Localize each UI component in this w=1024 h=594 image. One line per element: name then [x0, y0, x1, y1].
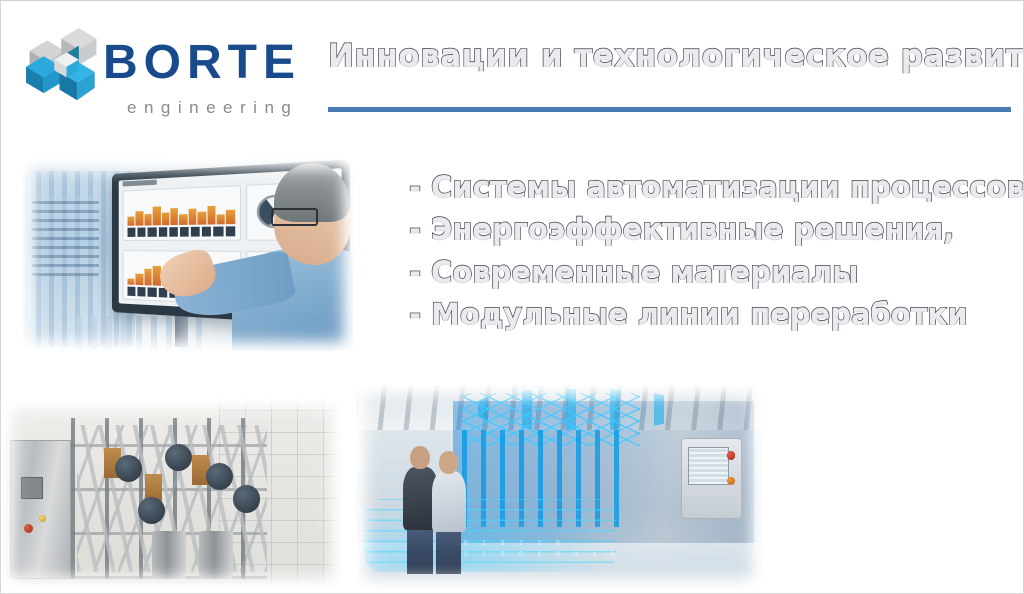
list-item-label: Энергоэффективные решения, [431, 213, 954, 246]
list-item: - Энергоэффективные решения, [409, 213, 1024, 246]
glasses-icon [271, 208, 318, 226]
page-title: Инновации и технологическое развитие [328, 39, 1011, 73]
title-divider [328, 107, 1011, 112]
machine-hmi-panel [681, 438, 742, 519]
status-light-orange-icon [727, 477, 735, 485]
cabinet-display [21, 477, 42, 499]
list-item-label: Современные материалы [431, 256, 858, 289]
bullet-marker-icon: - [409, 171, 421, 204]
engineer-back [429, 451, 468, 572]
bullet-marker-icon: - [409, 298, 421, 331]
page-title-wrapper: Инновации и технологическое развитие [328, 39, 1011, 73]
list-item-label: Модульные линии переработки [431, 298, 968, 331]
brand-tagline: engineering [127, 99, 298, 116]
emergency-stop-icon [24, 524, 33, 533]
machine-display [688, 447, 729, 485]
bullet-marker-icon: - [409, 213, 421, 246]
interlocking-cubes-logo-icon [19, 21, 107, 109]
operator-person [221, 159, 353, 351]
feature-list: - Системы автоматизации процессов, - Эне… [409, 171, 1024, 340]
bullet-marker-icon: - [409, 256, 421, 289]
slide-canvas: BORTE engineering Инновации и технологич… [0, 0, 1024, 594]
list-item: - Современные материалы [409, 256, 1024, 289]
list-item: - Модульные линии переработки [409, 298, 1024, 331]
photo-hmi-operator [23, 159, 353, 351]
engineers-group [401, 446, 490, 572]
brand-logo: BORTE engineering [15, 15, 325, 111]
brand-wordmark: BORTE [103, 39, 301, 87]
siemens-brand-mark-icon [123, 180, 157, 187]
control-cabinet [10, 440, 71, 579]
list-item: - Системы автоматизации процессов, [409, 171, 1024, 204]
list-item-label: Системы автоматизации процессов, [431, 171, 1024, 204]
photo-process-skid [3, 399, 341, 587]
status-light-red-icon [727, 451, 735, 459]
photo-digital-factory: 1 0 1 0 1 1 0 0 1 1 0 0 1 0 1 1 0 [356, 385, 762, 588]
indicator-lamp-icon [39, 515, 46, 522]
